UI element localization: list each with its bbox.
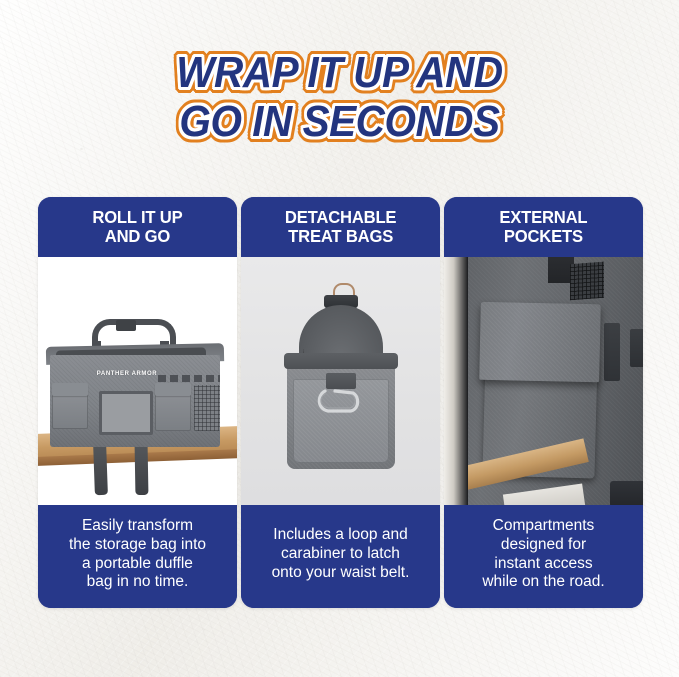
caption-line-4: bag in no time. [69,573,206,592]
product-photo-storage-bag: PANTHER ARMOR [38,257,237,505]
feature-card-roll-it-up: ROLL IT UP AND GO [38,197,237,608]
molle-webbing [158,375,220,382]
feature-card-grid: ROLL IT UP AND GO [38,197,643,608]
front-pocket-left-flap [52,383,88,396]
caption-line-2: designed for [482,536,604,555]
left-edge-gradient [444,257,468,505]
caption-line-1: Easily transform [69,517,206,536]
brand-logo-line-2: ARMOR [132,371,158,377]
card-header-line-2: AND GO [92,227,182,246]
side-mesh-pocket [194,385,220,431]
front-pocket-right-flap [155,383,191,396]
card-header-roll-it-up: ROLL IT UP AND GO [38,197,237,257]
infographic-page: WRAP IT UP AND GO IN SECONDS ROLL IT UP … [0,0,679,677]
feature-card-detachable-treat-bags: DETACHABLE TREAT BAGS [241,197,440,608]
caption-line-3: instant access [482,555,604,574]
velcro-strip-secondary [630,329,643,367]
card-header-line-2: POCKETS [499,227,587,246]
caption-line-2: carabiner to latch [272,545,410,564]
handle-grip-wrap [116,320,136,331]
card-header-external-pockets: EXTERNAL POCKETS [444,197,643,257]
bottom-strap [610,481,643,505]
caption-line-4: while on the road. [482,573,604,592]
caption-line-3: a portable duffle [69,555,206,574]
headline-line-1: WRAP IT UP AND [27,52,652,93]
hanging-strap-left [93,443,108,495]
card-header-line-1: DETACHABLE [285,208,396,227]
brand-logo: PANTHER ARMOR [94,371,160,378]
caption-line-1: Compartments [482,517,604,536]
card-caption-roll-it-up: Easily transform the storage bag into a … [38,505,237,608]
card-header-detachable-treat-bags: DETACHABLE TREAT BAGS [241,197,440,257]
product-photo-treat-bag [241,257,440,505]
headline: WRAP IT UP AND GO IN SECONDS [0,52,679,143]
clear-label-window [99,391,153,435]
brand-logo-line-1: PANTHER [97,371,130,377]
card-header-line-1: ROLL IT UP [92,208,182,227]
product-photo-external-pocket [444,257,643,505]
card-header-line-1: EXTERNAL [499,208,587,227]
caption-line-3: onto your waist belt. [272,564,410,583]
card-caption-external-pockets: Compartments designed for instant access… [444,505,643,608]
external-pocket-flap [479,302,601,382]
feature-card-external-pockets: EXTERNAL POCKETS [444,197,643,608]
headline-line-2: GO IN SECONDS [27,101,652,142]
hanging-strap-right [135,443,149,495]
caption-line-1: Includes a loop and [272,526,410,545]
mesh-panel [570,262,604,300]
card-header-line-2: TREAT BAGS [285,227,396,246]
caption-line-2: the storage bag into [69,536,206,555]
carabiner-icon [315,385,363,415]
velcro-strip [604,323,620,381]
card-caption-detachable-treat-bags: Includes a loop and carabiner to latch o… [241,505,440,608]
treat-bag-rim [284,353,398,369]
